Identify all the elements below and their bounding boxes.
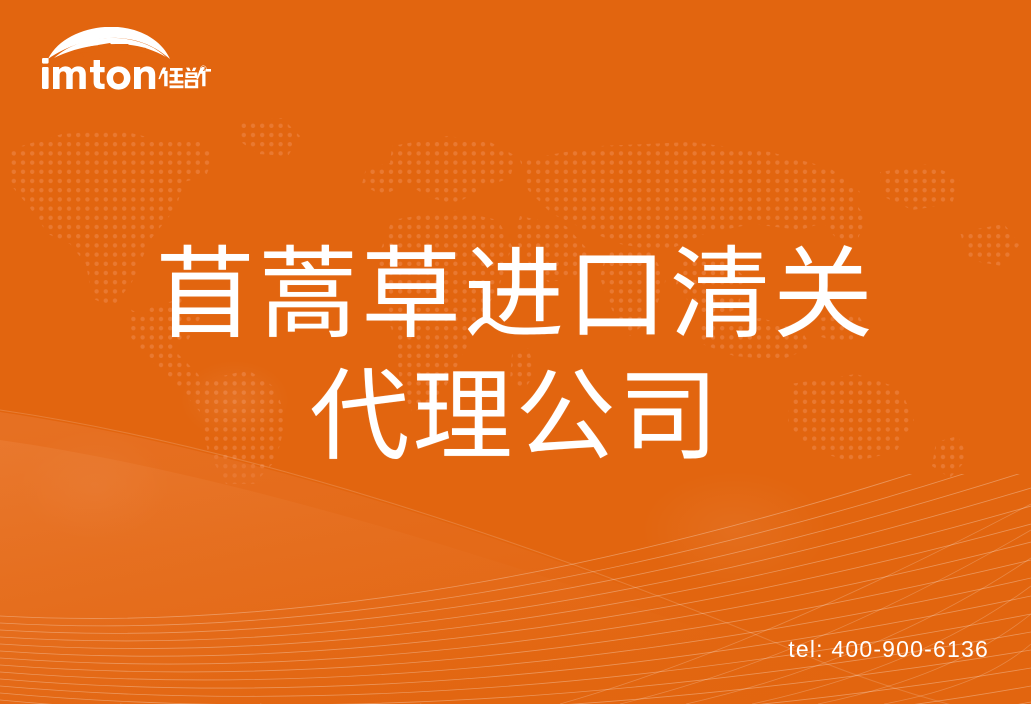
- promo-banner: ® 苜蒿草进口清关 代理公司 tel: 400-900-6136: [0, 0, 1031, 704]
- page-title: 苜蒿草进口清关 代理公司: [0, 234, 1031, 478]
- fan-lines-icon: [0, 474, 1031, 704]
- contact-phone[interactable]: tel: 400-900-6136: [788, 635, 989, 663]
- brand-logo[interactable]: ®: [36, 27, 211, 97]
- headline-line-1: 苜蒿草进口清关: [0, 234, 1031, 356]
- globe-arc-icon: [36, 27, 211, 97]
- headline-line-2: 代理公司: [0, 356, 1031, 478]
- glow-blob-right: [640, 470, 830, 590]
- registered-trademark-icon: ®: [200, 65, 207, 74]
